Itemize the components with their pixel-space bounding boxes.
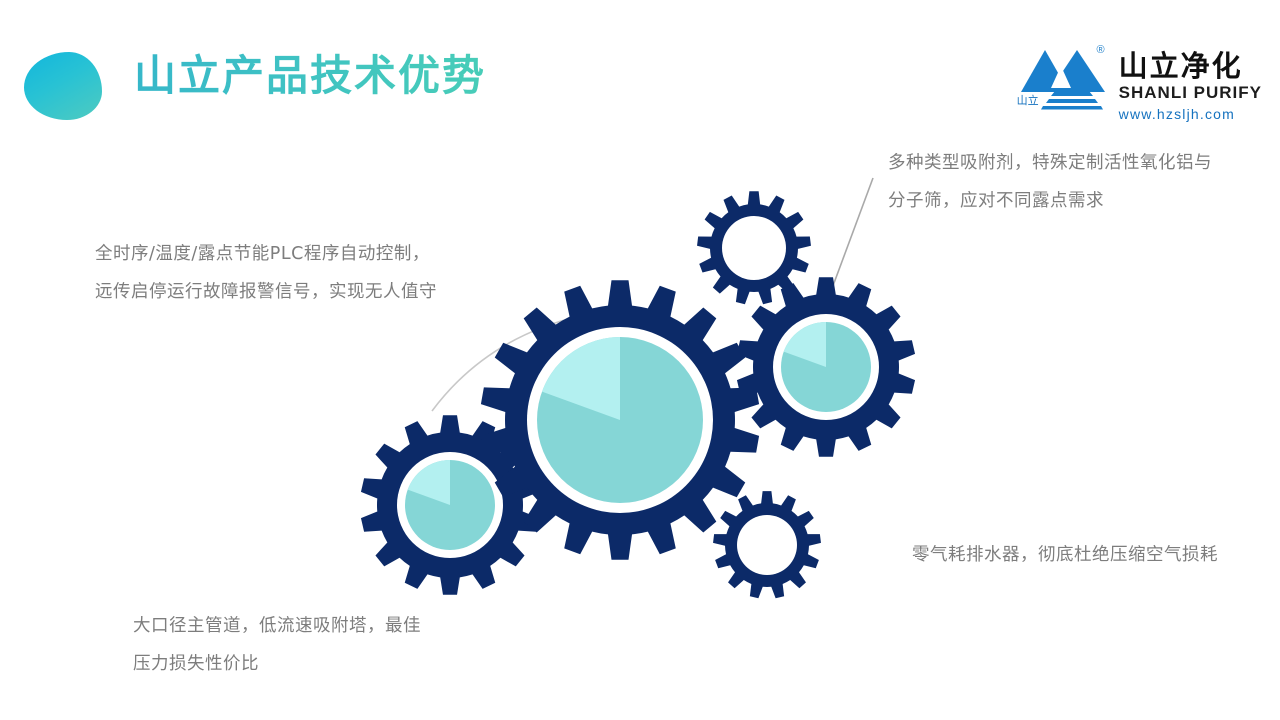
logo-name-en: SHANLI PURIFY (1119, 83, 1262, 103)
logo-wordmark: 山立净化 SHANLI PURIFY www.hzsljh.com (1119, 44, 1262, 123)
company-logo: ® 山立 山立净化 SHANLI PURIFY www.hzsljh.com (1015, 44, 1262, 123)
page-title: 山立产品技术优势 (134, 50, 486, 103)
logo-name-cn: 山立净化 (1119, 52, 1262, 82)
slide-root: 山立产品技术优势 ® 山立 山立净化 SHANLI PURIFY www.hzs… (0, 0, 1280, 720)
logo-website-url: www.hzsljh.com (1119, 106, 1262, 123)
decorative-blob (24, 52, 102, 120)
callout-large-diameter-pipeline: 大口径主管道，低流速吸附塔，最佳压力损失性价比 (133, 608, 433, 683)
gear-right (737, 277, 915, 456)
gear-bottom-small (713, 491, 821, 598)
callout-plc-control: 全时序/温度/露点节能PLC程序自动控制，远传启停运行故障报警信号，实现无人值守 (95, 236, 440, 311)
callout-adsorbent-types: 多种类型吸附剂，特殊定制活性氧化铝与分子筛，应对不同露点需求 (888, 145, 1218, 220)
logo-mountain-icon: ® 山立 (1015, 44, 1111, 110)
registered-trademark-icon: ® (1097, 44, 1105, 56)
callout-zero-air-loss-drain: 零气耗排水器，彻底杜绝压缩空气损耗 (912, 537, 1232, 575)
logo-mark-label: 山立 (1017, 96, 1039, 107)
